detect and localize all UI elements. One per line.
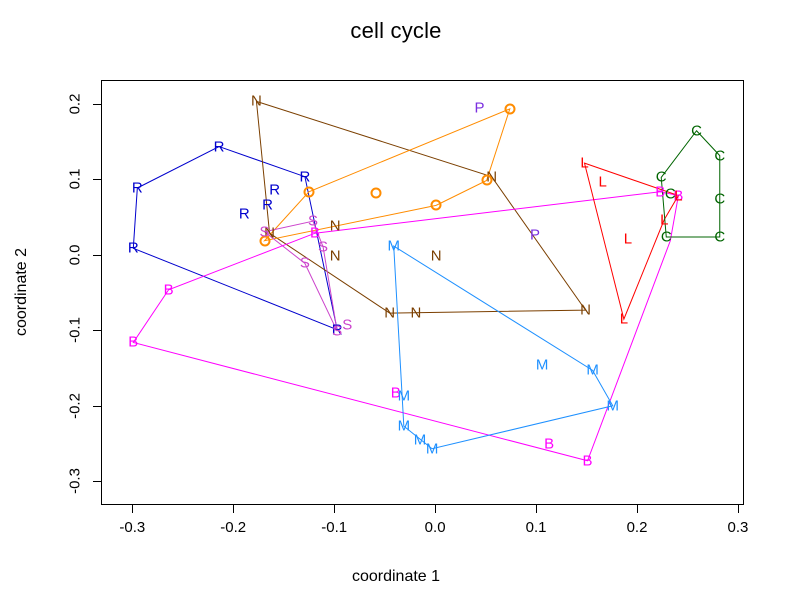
- data-point-c-1: C: [714, 148, 725, 163]
- y-tick-label: -0.3: [67, 468, 84, 494]
- data-point-m-2: M: [586, 363, 599, 378]
- page-title: cell cycle: [0, 18, 792, 44]
- data-point-c-6: C: [665, 187, 676, 202]
- data-point-b-0: B: [164, 282, 174, 297]
- figure-canvas: cell cycle RRRRRRRRNNNNNNNNNSSSSSSBBBBBB…: [0, 0, 792, 611]
- y-tick-label: 0.2: [67, 94, 84, 115]
- cluster-hull-m: [394, 246, 613, 449]
- y-tick-mark: [93, 481, 101, 482]
- data-point-n-7: N: [411, 306, 422, 321]
- x-tick-mark: [132, 505, 133, 513]
- cluster-hull-n: [256, 101, 585, 313]
- y-tick-mark: [93, 179, 101, 180]
- y-tick-mark: [93, 104, 101, 105]
- data-point-s-0: S: [260, 224, 270, 239]
- x-tick-label: -0.1: [321, 519, 347, 536]
- data-point-c-2: C: [656, 170, 667, 185]
- data-point-b-4: B: [583, 453, 593, 468]
- y-tick-label: 0.1: [67, 169, 84, 190]
- x-tick-label: 0.3: [728, 519, 749, 536]
- data-point-b-5: B: [544, 437, 554, 452]
- x-tick-mark: [435, 505, 436, 513]
- x-tick-mark: [536, 505, 537, 513]
- data-point-o-2: [431, 200, 442, 211]
- data-point-r-6: R: [299, 169, 310, 184]
- data-point-l-1: L: [598, 174, 606, 189]
- data-point-s-4: S: [332, 324, 342, 339]
- data-point-m-1: M: [536, 358, 549, 373]
- x-tick-label: -0.2: [220, 519, 246, 536]
- y-tick-mark: [93, 406, 101, 407]
- plot-area: RRRRRRRRNNNNNNNNNSSSSSSBBBBBBBBMMMMMMMML…: [101, 80, 744, 505]
- x-tick-mark: [334, 505, 335, 513]
- data-point-r-4: R: [262, 197, 273, 212]
- x-tick-mark: [738, 505, 739, 513]
- x-tick-label: 0.1: [526, 519, 547, 536]
- data-point-b-1: B: [128, 335, 138, 350]
- data-point-s-5: S: [342, 318, 352, 333]
- data-point-c-5: C: [661, 229, 672, 244]
- data-point-r-2: R: [128, 241, 139, 256]
- data-point-l-0: L: [580, 156, 588, 171]
- cluster-hull-c: [661, 131, 720, 237]
- x-tick-mark: [233, 505, 234, 513]
- data-point-n-6: N: [384, 306, 395, 321]
- data-point-p-1: P: [530, 227, 540, 242]
- y-tick-label: -0.2: [67, 393, 84, 419]
- data-point-m-7: M: [426, 441, 439, 456]
- data-point-m-3: M: [398, 388, 411, 403]
- data-point-r-0: R: [214, 139, 225, 154]
- y-axis-title: coordinate 2: [13, 248, 31, 336]
- x-tick-label: -0.3: [119, 519, 145, 536]
- x-tick-label: 0.0: [425, 519, 446, 536]
- y-tick-label: 0.0: [67, 244, 84, 265]
- data-point-m-0: M: [387, 239, 400, 254]
- data-point-s-3: S: [300, 256, 310, 271]
- data-point-n-3: N: [330, 248, 341, 263]
- data-point-r-1: R: [132, 181, 143, 196]
- data-point-o-0: [504, 103, 515, 114]
- data-point-o-3: [370, 188, 381, 199]
- data-point-n-2: N: [330, 218, 341, 233]
- data-point-b-6: B: [655, 184, 665, 199]
- data-point-b-2: B: [310, 226, 320, 241]
- data-point-o-1: [481, 175, 492, 186]
- data-point-l-3: L: [624, 232, 632, 247]
- data-point-r-3: R: [239, 207, 250, 222]
- data-point-n-8: N: [580, 303, 591, 318]
- data-point-m-6: M: [414, 432, 427, 447]
- y-tick-mark: [93, 255, 101, 256]
- data-point-p-0: P: [475, 101, 485, 116]
- data-point-c-3: C: [714, 192, 725, 207]
- data-point-c-0: C: [691, 123, 702, 138]
- data-point-l-2: L: [660, 212, 668, 227]
- data-point-n-0: N: [251, 94, 262, 109]
- data-point-l-4: L: [620, 312, 628, 327]
- y-tick-label: -0.1: [67, 317, 84, 343]
- data-point-m-5: M: [607, 398, 620, 413]
- x-tick-label: 0.2: [627, 519, 648, 536]
- data-point-o-4: [303, 186, 314, 197]
- x-tick-mark: [637, 505, 638, 513]
- data-point-r-5: R: [269, 182, 280, 197]
- y-tick-mark: [93, 330, 101, 331]
- x-axis-title: coordinate 1: [0, 568, 792, 586]
- data-point-c-4: C: [714, 229, 725, 244]
- data-point-n-5: N: [431, 248, 442, 263]
- data-point-m-4: M: [398, 419, 411, 434]
